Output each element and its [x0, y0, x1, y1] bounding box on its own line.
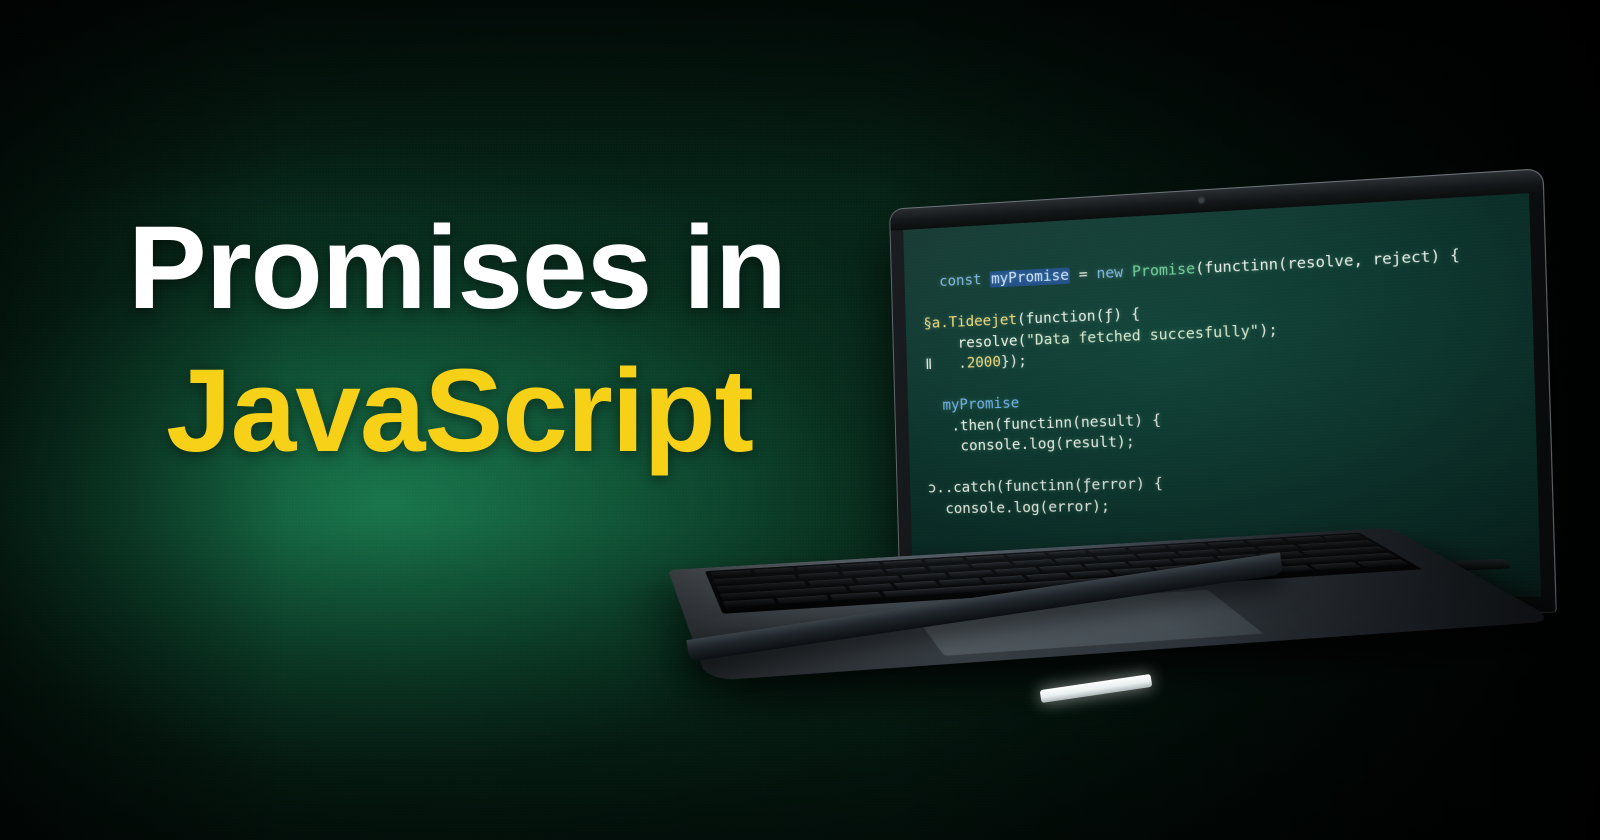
code-token: (functinn(nesult) {: [994, 412, 1161, 433]
code-token: =: [1070, 266, 1097, 284]
code-token: myPromise: [990, 267, 1070, 287]
code-token: console.log(error);: [928, 498, 1110, 517]
code-editor-content[interactable]: const myPromise = new Promise(functinn(r…: [922, 241, 1534, 519]
laptop-base: [668, 528, 1557, 681]
code-token: });: [1001, 353, 1027, 370]
code-token: ɔ..catch: [928, 479, 996, 496]
base-shading: [668, 528, 1557, 681]
code-token: myPromise: [925, 395, 1019, 414]
code-token: Promise: [1132, 261, 1196, 281]
webcam-icon: [1198, 198, 1203, 204]
code-token: 2000: [967, 354, 1002, 371]
code-token: console.log(result): [927, 434, 1126, 455]
poster-canvas: Promises in JavaScript const myPromise =…: [0, 0, 1600, 840]
code-token: (functinn(ƒerror) {: [996, 476, 1163, 496]
code-token: ǁ .: [924, 355, 967, 373]
code-token: resolve(: [924, 332, 1027, 352]
code-token: ;: [1126, 434, 1135, 451]
code-token: .then: [926, 417, 994, 435]
code-token: );: [1259, 322, 1278, 340]
code-token: const: [922, 271, 990, 291]
code-token: new: [1096, 264, 1132, 282]
code-token: §a.Tideejet: [923, 312, 1017, 332]
code-token: (function(ƒ) {: [1017, 306, 1141, 328]
